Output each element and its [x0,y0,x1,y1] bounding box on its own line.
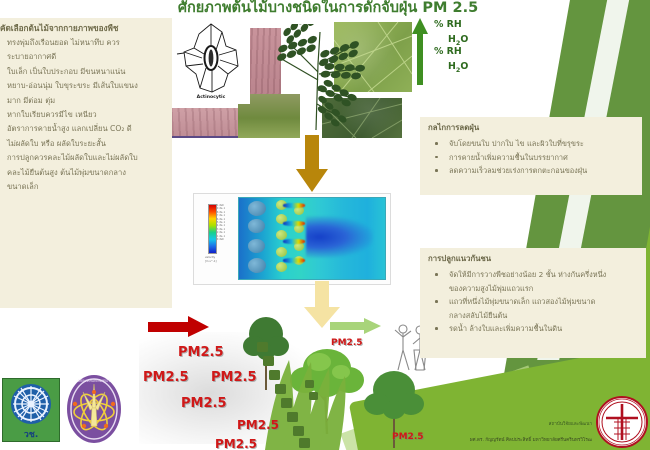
cfd-jet [283,221,305,226]
list-item: การคายน้ำเพิ่มความชื้นในบรรยากาศ [427,151,635,165]
stomata-caption: Actinocytic [172,95,250,100]
cfd-obstacle [248,201,266,216]
author-credit: ผศ.ดร. กัญญรัตน์ ศิลปประสิทธิ์ มหาวิทยาล… [382,437,592,444]
bullet-icon [435,327,438,330]
list-item: ทรงพุ่มถึงเรือนยอด ไม่หนาทึบ ควร [0,36,166,50]
plant-selection-list: ทรงพุ่มถึงเรือนยอด ไม่หนาทึบ ควร ระบายอา… [0,36,166,194]
list-item: การปลูกควรคละไม้ผลัดใบและไม่ผลัดใบ [0,151,166,165]
list-item-label: แถวที่หนึ่งไม้พุ่มขนาดเล็ก แถวสองไม้พุ่ม… [449,297,595,306]
list-item: จับโดยขนใบ ปากใบ ไข และผิวใบที่ขรุขระ [427,137,635,151]
cfd-obstacle [248,239,265,253]
cfd-obstacle [248,258,266,273]
list-item-label: การคายน้ำเพิ่มความชื้นในบรรยากาศ [449,153,568,162]
humidity-indicator-group: % RH % RH H2O H2O [404,18,514,90]
wheel-emblem-icon [7,382,55,426]
slide-canvas: ศักยภาพต้นไม้บางชนิดในการดักจับฝุ่น PM 2… [0,0,650,450]
cfd-obstacle-small [276,247,287,257]
process-arrow-down-pale [303,281,341,329]
list-item-label: จับโดยขนใบ ปากใบ ไข และผิวใบที่ขรุขระ [449,139,584,148]
list-item: ไม่ผลัดใบ หรือ ผลัดใบระยะสั้น [0,137,166,151]
page-title: ศักยภาพต้นไม้บางชนิดในการดักจับฝุ่น PM 2… [118,0,538,19]
bullet-icon [435,142,438,145]
hedge-and-grass-row [253,338,393,450]
cfd-obstacle [248,219,265,233]
cfd-flow-field [238,197,386,280]
rh-label-1: % RH [434,19,462,30]
bullet-icon [435,273,438,276]
h2o-label-2: H2O [448,61,468,74]
list-item: ระบายอากาศดี [0,50,166,64]
list-item-label: รดน้ำ ล้างใบและเพิ่มความชื้นในดิน [449,324,562,333]
list-item-label: ลดความเร็วลมช่วยเร่งการตกตะกอนของฝุ่น [449,166,587,175]
list-item: คละไม้ยืนต้นสูง ต้นไม้พุ่มขนาดกลาง [0,166,166,180]
box2-heading: การปลูกแนวกันชน [428,253,639,265]
cfd-jet [283,239,305,244]
colorbar-legend: 1.0e09.0e-18.0e-17.0e-16.0e-15.0e-1 4.0e… [204,202,230,274]
list-item: ลดความเร็วลมช่วยเร่งการตกตะกอนของฝุ่น [427,164,635,178]
box1-heading: กลไกการลดฝุ่น [428,122,635,134]
stomata-drawing [172,18,250,98]
list-item: หากใบเรียบควรมีไข เหนียว [0,108,166,122]
list-item-label: จัดให้มีการวางพืชอย่างน้อย 2 ชั้น ห่างกั… [449,270,606,279]
logo-institute [596,396,648,448]
dust-reduction-mechanism-box: กลไกการลดฝุ่น จับโดยขนใบ ปากใบ ไข และผิว… [420,117,642,195]
institute-credit: สถาบันวิจัยและพัฒนา [442,421,592,428]
pm-label: PM2.5 [143,370,189,385]
box2-list: จัดให้มีการวางพืชอย่างน้อย 2 ชั้น ห่างกั… [427,268,639,336]
list-item: จัดให้มีการวางพืชอย่างน้อย 2 ชั้น ห่างกั… [427,268,639,282]
buffer-planting-box: การปลูกแนวกันชน จัดให้มีการวางพืชอย่างน้… [420,248,646,358]
list-item-label: ของความสูงไม้พุ่มแถวแรก [449,284,533,293]
rh-label-2: % RH [434,46,462,57]
arrow-up-icon [411,18,429,86]
bullet-icon [435,169,438,172]
colorbar-ticks: 1.0e09.0e-18.0e-17.0e-16.0e-15.0e-1 4.0e… [217,204,229,252]
process-arrow-down-gold [295,135,329,193]
colorbar-caption: velocity[m s^-1] [205,256,217,264]
plant-selection-panel: คัดเลือกต้นไม้จากกายภาพของพืช ทรงพุ่มถึง… [0,18,172,308]
list-item-continuation: กลางสลับไม้ยืนต้น [427,309,639,323]
stomata-diagram: Actinocytic [172,18,250,104]
logo-nrct-label: วช. [2,427,60,441]
list-item: หยาบ-อ่อนนุ่ม ใบขุระขระ มีเส้นใบแขนง [0,79,166,93]
pm-label: PM2.5 [215,437,257,450]
arrow-right-red [148,316,210,338]
list-item: มาก มีต่อม ตุ่ม [0,94,166,108]
pm-label: PM2.5 [237,418,279,432]
buffer-planting-illustration: PM2.5 PM2.5 PM2.5 PM2.5 PM2.5 PM2.5 PM2.… [145,312,435,450]
logo-swu: SRINAKHARINWIROT [66,374,122,444]
pm-label: PM2.5 [331,338,363,348]
cfd-jet [283,258,305,263]
cfd-jet [283,203,305,208]
pm-label: PM2.5 [178,345,224,360]
svg-text:SRINAKHARINWIROT: SRINAKHARINWIROT [78,379,110,383]
list-item: แถวที่หนึ่งไม้พุ่มขนาดเล็ก แถวสองไม้พุ่ม… [427,295,639,309]
list-item: ใบเล็ก เป็นใบประกอบ มีขนหนาแน่น [0,65,166,79]
cfd-obstacle-small [276,262,287,272]
pm-label: PM2.5 [181,396,227,411]
logo-nrct: วช. [2,378,60,442]
list-item-label: กลางสลับไม้ยืนต้น [449,311,507,320]
box1-list: จับโดยขนใบ ปากใบ ไข และผิวใบที่ขรุขระ กา… [427,137,635,178]
plant-selection-heading: คัดเลือกต้นไม้จากกายภาพของพืช [0,22,166,34]
bark-photo-secondary [172,108,242,138]
list-item: ขนาดเล็ก [0,180,166,194]
photo-collage: Actinocytic [172,16,412,136]
bullet-icon [435,300,438,303]
bullet-icon [435,156,438,159]
list-item: อัตราการคายน้ำสูง แลกเปลี่ยน CO₂ ดี [0,122,166,136]
cfd-simulation-panel: 1.0e09.0e-18.0e-17.0e-16.0e-15.0e-1 4.0e… [193,193,391,285]
h2o-label-1: H2O [448,34,468,47]
compound-leaf-illustration [258,24,378,136]
pm-label: PM2.5 [211,370,257,385]
cfd-wake-core [306,216,373,258]
colorbar-gradient [208,204,217,254]
list-item: รดน้ำ ล้างใบและเพิ่มความชื้นในดิน [427,322,639,336]
list-item-continuation: ของความสูงไม้พุ่มแถวแรก [427,282,639,296]
